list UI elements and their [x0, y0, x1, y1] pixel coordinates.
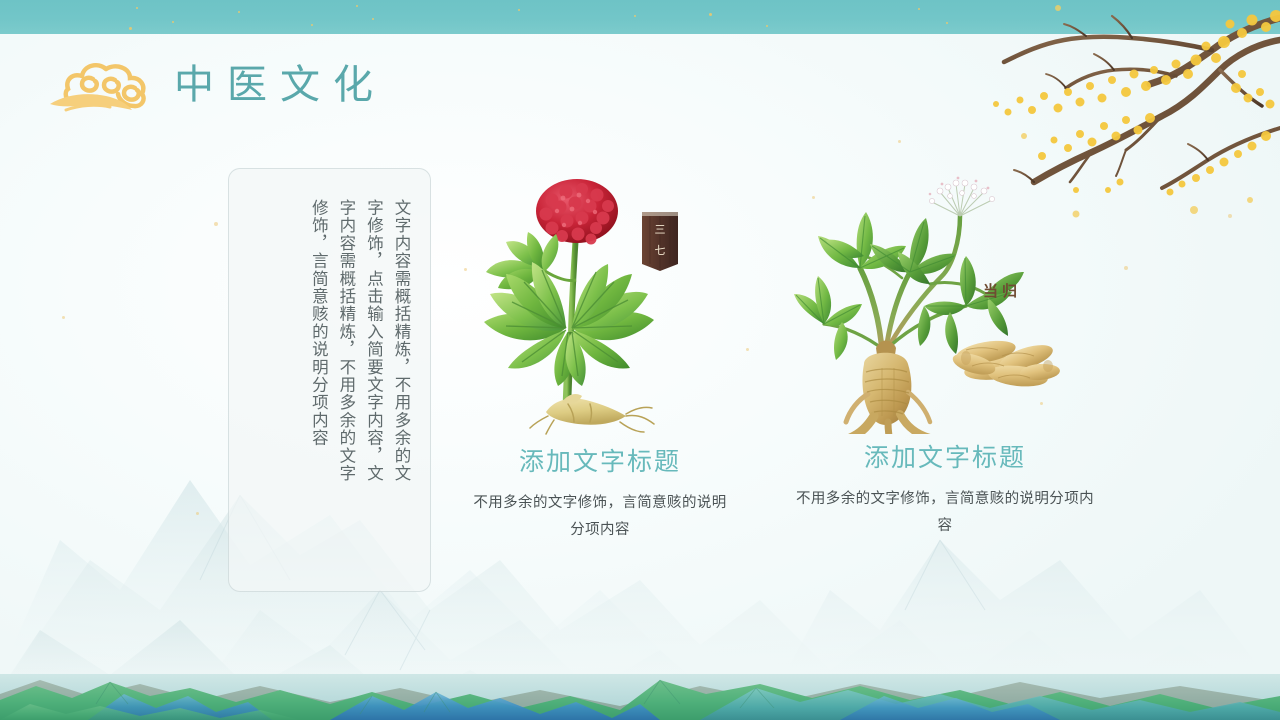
- gold-dust-10: [898, 140, 901, 143]
- notoginseng-illustration: 三 七: [440, 176, 760, 438]
- gold-dust-1: [214, 222, 218, 226]
- vertical-text-column-1: 文字内容需概括精炼，不用多余的文: [388, 199, 414, 544]
- vertical-text-column-2: 字修饰，点击输入简要文字内容，文: [361, 199, 387, 544]
- slide-header: 中医文化: [48, 52, 386, 118]
- vertical-text-column-4: 修饰，言简意赅的说明分项内容: [306, 199, 332, 544]
- gold-dust-9: [62, 316, 65, 319]
- vertical-text-columns: 文字内容需概括精炼，不用多余的文 字修饰，点击输入简要文字内容，文 字内容需概括…: [229, 169, 430, 591]
- angelica-root-slices: [950, 337, 1060, 389]
- gold-dust-5: [1124, 266, 1128, 270]
- gold-dust-3: [746, 348, 749, 351]
- item-description-2: 不用多余的文字修饰，言简意赅的说明分项内容: [780, 486, 1110, 540]
- gold-dust-7: [196, 512, 199, 515]
- item-title-2: 添加文字标题: [780, 438, 1110, 474]
- angelica-illustration: 当归: [780, 172, 1110, 434]
- top-banner: [0, 0, 1280, 34]
- herb-tag-notoginseng: 三 七: [642, 212, 678, 271]
- gold-dust-8: [1040, 402, 1043, 405]
- near-mountains-decoration: [0, 674, 1280, 720]
- item-description-1: 不用多余的文字修饰，言简意赅的说明分项内容: [440, 490, 760, 544]
- svg-text:三: 三: [655, 224, 666, 236]
- slide-canvas: 中医文化: [0, 0, 1280, 720]
- gold-dust-6: [1228, 214, 1232, 218]
- herb-item-angelica: 当归 添加文字标题 不用多余的文字修饰，言简意赅的说明分项内容: [780, 172, 1110, 540]
- svg-text:七: 七: [655, 244, 666, 257]
- page-title: 中医文化: [174, 65, 386, 105]
- item-title-1: 添加文字标题: [440, 442, 760, 478]
- vertical-text-column-3: 字内容需概括精炼，不用多余的文字: [333, 199, 359, 544]
- herb-item-notoginseng: 三 七 添加文字标题 不用多余的文字修饰，言简意赅的说明分项内容: [440, 176, 760, 544]
- herb-name-angelica: 当归: [983, 282, 1021, 300]
- gold-dust-2: [464, 268, 467, 271]
- vertical-text-panel: 文字内容需概括精炼，不用多余的文 字修饰，点击输入简要文字内容，文 字内容需概括…: [228, 168, 431, 592]
- auspicious-cloud-icon: [48, 52, 158, 118]
- gold-dust-4: [812, 196, 815, 199]
